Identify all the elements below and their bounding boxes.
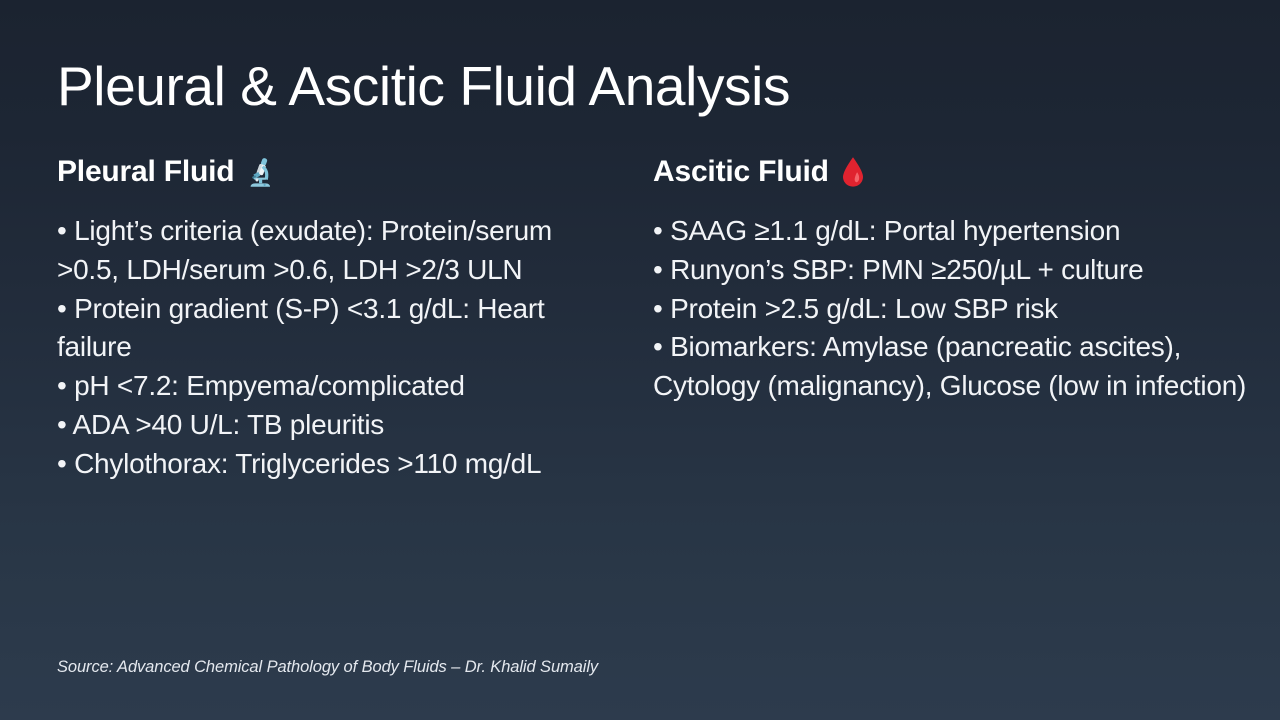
column-ascitic-fluid: Ascitic Fluid • SAAG ≥1.1 g/dL: Portal h… — [0, 152, 1280, 406]
page-title: Pleural & Ascitic Fluid Analysis — [57, 57, 790, 116]
blood-drop-icon — [840, 156, 870, 188]
column-header-label-ascitic: Ascitic Fluid — [653, 154, 829, 191]
content-columns: Pleural Fluid — [0, 152, 1280, 484]
list-item: • ADA >40 U/L: TB pleuritis — [57, 406, 580, 445]
source-citation: Source: Advanced Chemical Pathology of B… — [57, 658, 598, 677]
list-item: • Runyon’s SBP: PMN ≥250/µL + culture — [653, 251, 1250, 290]
column-header-ascitic: Ascitic Fluid — [653, 152, 1250, 192]
list-item: • SAAG ≥1.1 g/dL: Portal hypertension — [653, 212, 1250, 251]
list-item: • Biomarkers: Amylase (pancreatic ascite… — [653, 328, 1250, 406]
list-item: • Protein >2.5 g/dL: Low SBP risk — [653, 290, 1250, 329]
slide: Pleural & Ascitic Fluid Analysis Pleural… — [0, 0, 1280, 720]
bullet-list-ascitic: • SAAG ≥1.1 g/dL: Portal hypertension • … — [653, 212, 1250, 406]
list-item: • Chylothorax: Triglycerides >110 mg/dL — [57, 445, 580, 484]
